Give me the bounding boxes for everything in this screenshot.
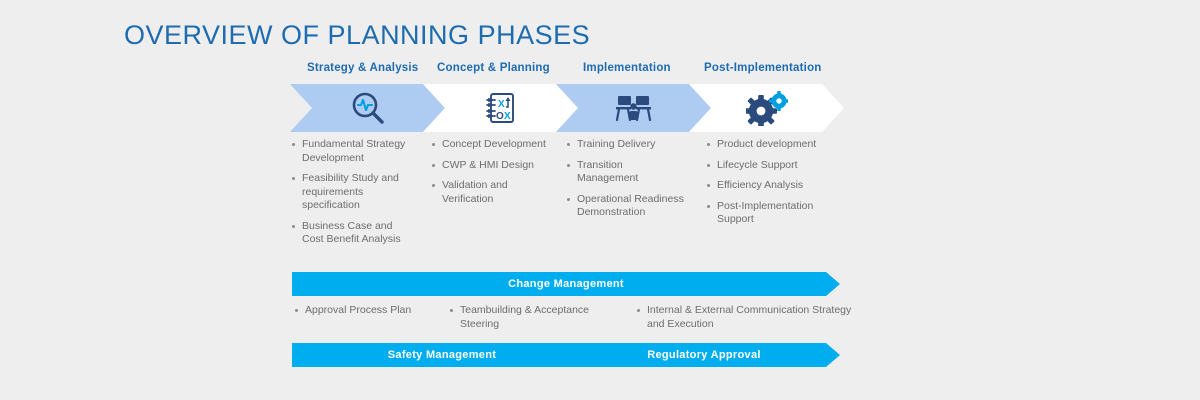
- phase-chevron-2[interactable]: X O X: [423, 84, 578, 132]
- phase-header-3: Implementation: [583, 62, 671, 74]
- phase-bullets-2: Concept Development CWP & HMI Design Val…: [430, 138, 552, 213]
- phase-header-4: Post-Implementation: [704, 62, 822, 74]
- svg-text:X: X: [504, 111, 511, 122]
- list-item: Fundamental Strategy Development: [290, 138, 415, 165]
- phase-chevron-1[interactable]: [290, 84, 445, 132]
- gears-icon: [746, 90, 788, 126]
- list-item: Lifecycle Support: [705, 159, 840, 173]
- diagram-canvas: OVERVIEW OF PLANNING PHASES Strategy & A…: [0, 0, 1200, 400]
- list-item: CWP & HMI Design: [430, 159, 552, 173]
- regulatory-approval-bar[interactable]: Regulatory Approval: [568, 343, 840, 367]
- list-item: Feasibility Study and requirements speci…: [290, 172, 415, 213]
- svg-text:X: X: [498, 99, 505, 110]
- change-management-bullet-2: Teambuilding & Acceptance Steering: [448, 304, 630, 331]
- change-management-bullet-3: Internal & External Communication Strate…: [635, 304, 852, 331]
- phase-bullets-3: Training Delivery Transition Management …: [565, 138, 685, 227]
- safety-management-bar[interactable]: Safety Management: [292, 343, 592, 367]
- phase-bullets-4: Product development Lifecycle Support Ef…: [705, 138, 840, 234]
- list-item: Product development: [705, 138, 840, 152]
- training-workstations-icon: [614, 91, 654, 125]
- strategy-notepad-icon: X O X: [484, 90, 518, 126]
- phase-chevron-3[interactable]: [556, 84, 711, 132]
- magnifier-pulse-icon: [350, 90, 386, 126]
- list-item: Concept Development: [430, 138, 552, 152]
- list-item: Operational Readiness Demonstration: [565, 193, 685, 220]
- change-management-bullet-1: Approval Process Plan: [293, 304, 445, 318]
- phase-chevron-band: X O X: [290, 84, 840, 132]
- list-item: Training Delivery: [565, 138, 685, 152]
- page-title: OVERVIEW OF PLANNING PHASES: [124, 20, 590, 51]
- list-item: Efficiency Analysis: [705, 179, 840, 193]
- change-management-bar[interactable]: Change Management: [292, 272, 840, 296]
- phase-chevron-4[interactable]: [689, 84, 844, 132]
- list-item: Transition Management: [565, 159, 685, 186]
- phase-bullets-1: Fundamental Strategy Development Feasibi…: [290, 138, 415, 254]
- phase-header-1: Strategy & Analysis: [307, 62, 418, 74]
- list-item: Validation and Verification: [430, 179, 552, 206]
- phase-header-2: Concept & Planning: [437, 62, 550, 74]
- list-item: Business Case and Cost Benefit Analysis: [290, 220, 415, 247]
- list-item: Post-Implementation Support: [705, 200, 840, 227]
- svg-text:O: O: [496, 111, 504, 122]
